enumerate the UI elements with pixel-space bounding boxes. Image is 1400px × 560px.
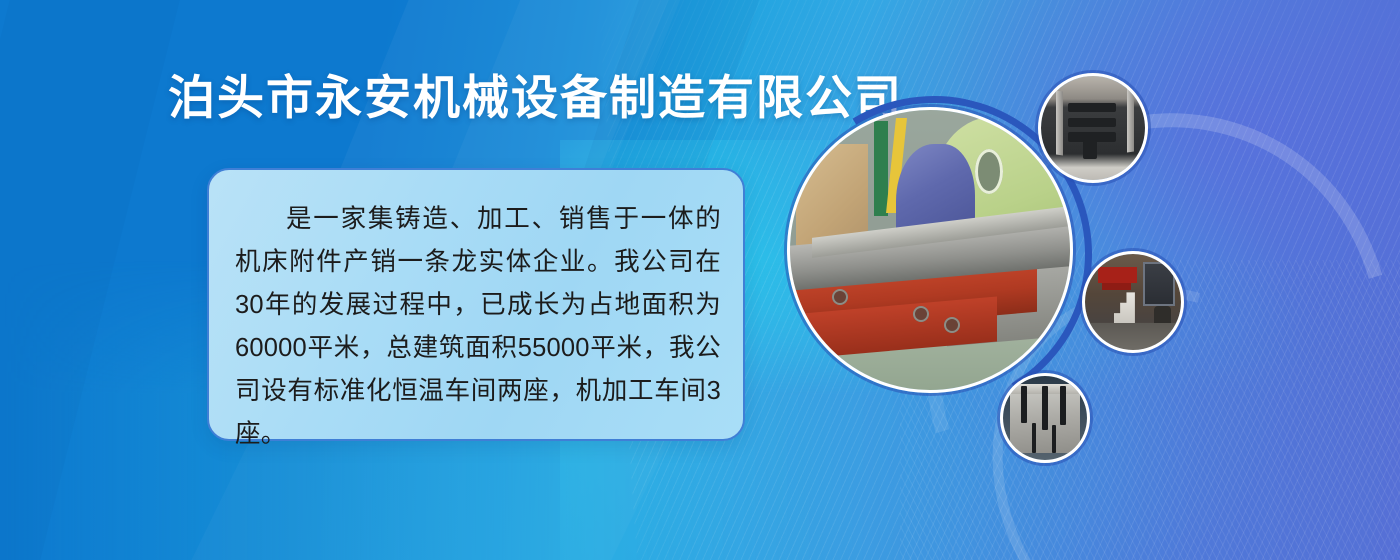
photo-workshop-interior-machining[interactable] — [1085, 254, 1181, 350]
photo-machine-tool-bed-red-casting[interactable] — [790, 110, 1070, 390]
photo-grey-iron-castings-stack[interactable] — [1003, 376, 1087, 460]
company-banner: 泊头市永安机械设备制造有限公司 是一家集铸造、加工、销售于一体的机床附件产销一条… — [0, 0, 1400, 560]
company-description-card: 是一家集铸造、加工、销售于一体的机床附件产销一条龙实体企业。我公司在30年的发展… — [207, 168, 745, 441]
company-description-text: 是一家集铸造、加工、销售于一体的机床附件产销一条龙实体企业。我公司在30年的发展… — [235, 198, 721, 456]
photo-machine-frame-top-view[interactable] — [1041, 76, 1145, 180]
